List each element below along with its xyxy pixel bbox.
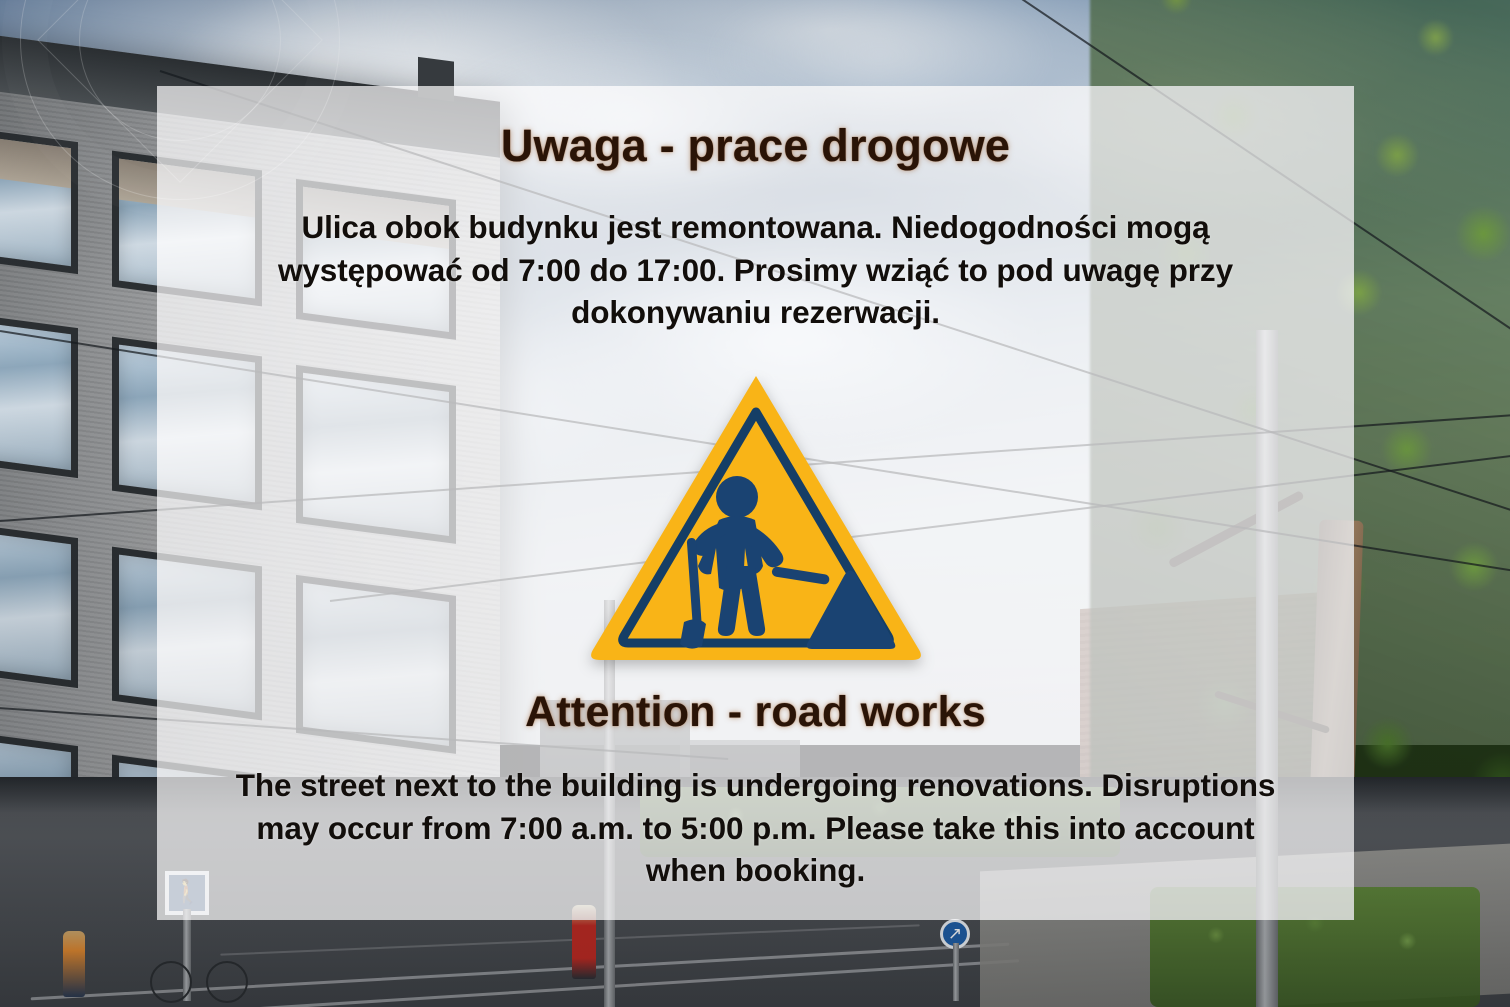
spacer xyxy=(209,660,1302,688)
bicycle-wheel xyxy=(150,961,192,1003)
english-heading: Attention - road works xyxy=(209,688,1302,737)
polish-body-text: Ulica obok budynku jest remontowana. Nie… xyxy=(236,206,1276,334)
spacer xyxy=(209,172,1302,206)
shovel-blade xyxy=(680,620,706,649)
bicycle-wheel xyxy=(206,961,248,1003)
road-works-sign xyxy=(586,360,926,660)
polish-heading: Uwaga - prace drogowe xyxy=(209,120,1302,172)
spacer xyxy=(209,738,1302,764)
worker-head xyxy=(716,476,758,518)
road-marking xyxy=(220,924,919,955)
pedestrian xyxy=(63,931,85,997)
screenshot-root: James Cook BAR + KITCHEN 8-22 🚶 ↗ xyxy=(0,0,1510,1007)
window xyxy=(0,522,78,688)
notice-panel: Uwaga - prace drogowe Ulica obok budynku… xyxy=(157,86,1354,920)
spacer xyxy=(209,334,1302,360)
english-body-text: The street next to the building is under… xyxy=(236,764,1276,892)
sign-pole xyxy=(953,943,959,1001)
